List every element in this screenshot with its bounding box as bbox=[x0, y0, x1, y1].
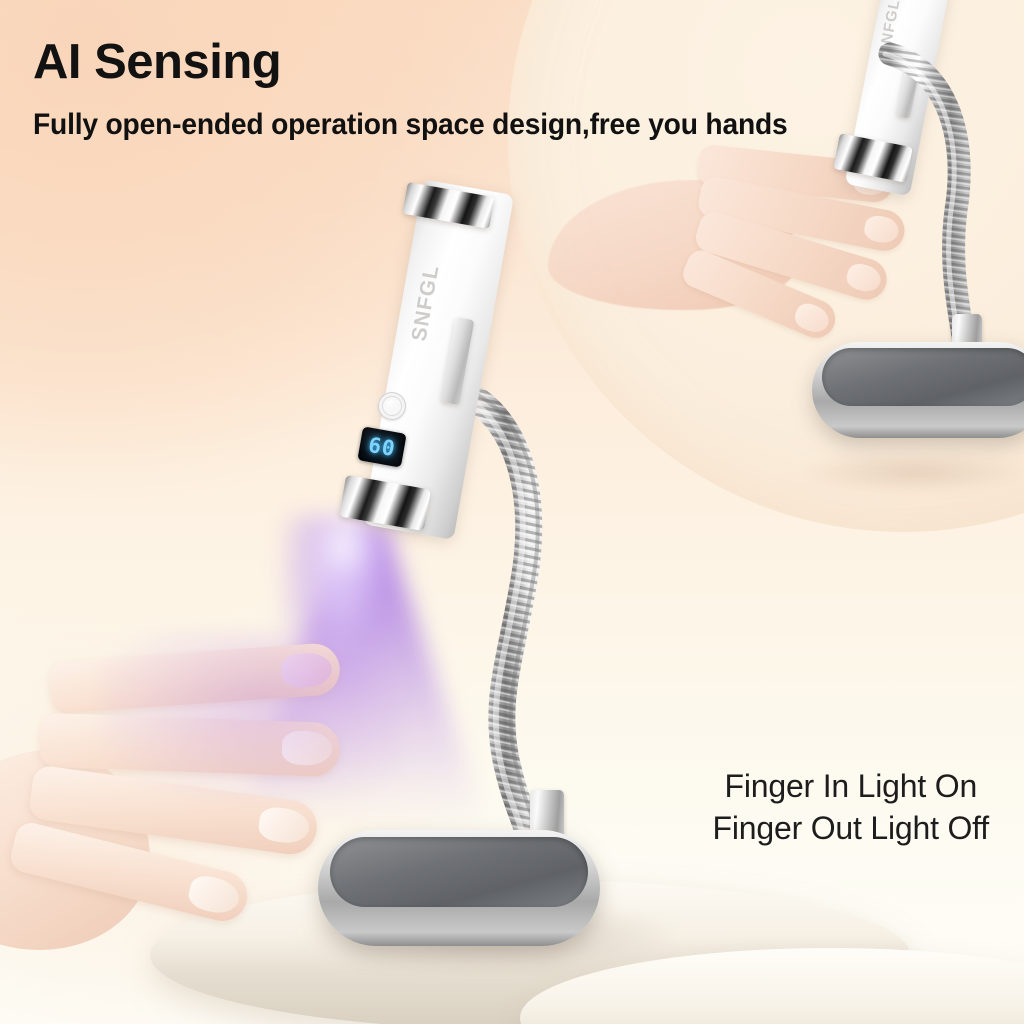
inset-uv-lamp-device: SNFGL bbox=[816, 0, 1024, 500]
main-base-top-surface bbox=[330, 837, 588, 907]
feature-tagline: Finger In Light On Finger Out Light Off bbox=[713, 765, 989, 849]
inset-base-top-surface bbox=[822, 348, 1024, 406]
main-lamp-base bbox=[318, 830, 600, 946]
main-finger bbox=[39, 713, 341, 777]
page-subtitle: Fully open-ended operation space design,… bbox=[33, 108, 788, 143]
page-title: AI Sensing bbox=[33, 38, 281, 87]
inset-base-shadow bbox=[800, 452, 1024, 492]
inset-gooseneck-svg bbox=[876, 40, 1024, 370]
main-uv-lamp-device: SNFGL 60 bbox=[300, 170, 640, 930]
timer-display: 60 bbox=[357, 426, 406, 467]
inset-lamp-base bbox=[812, 342, 1024, 438]
product-banner: SNFGL bbox=[0, 0, 1024, 1024]
feature-tagline-line-2: Finger Out Light Off bbox=[713, 807, 989, 849]
timer-display-value: 60 bbox=[366, 433, 397, 461]
main-finger bbox=[49, 642, 342, 714]
main-fingernail bbox=[186, 872, 243, 917]
main-brand-label: SNFGL bbox=[408, 263, 445, 343]
inset-gooseneck-arm bbox=[876, 40, 1024, 370]
feature-tagline-line-1: Finger In Light On bbox=[713, 765, 989, 807]
